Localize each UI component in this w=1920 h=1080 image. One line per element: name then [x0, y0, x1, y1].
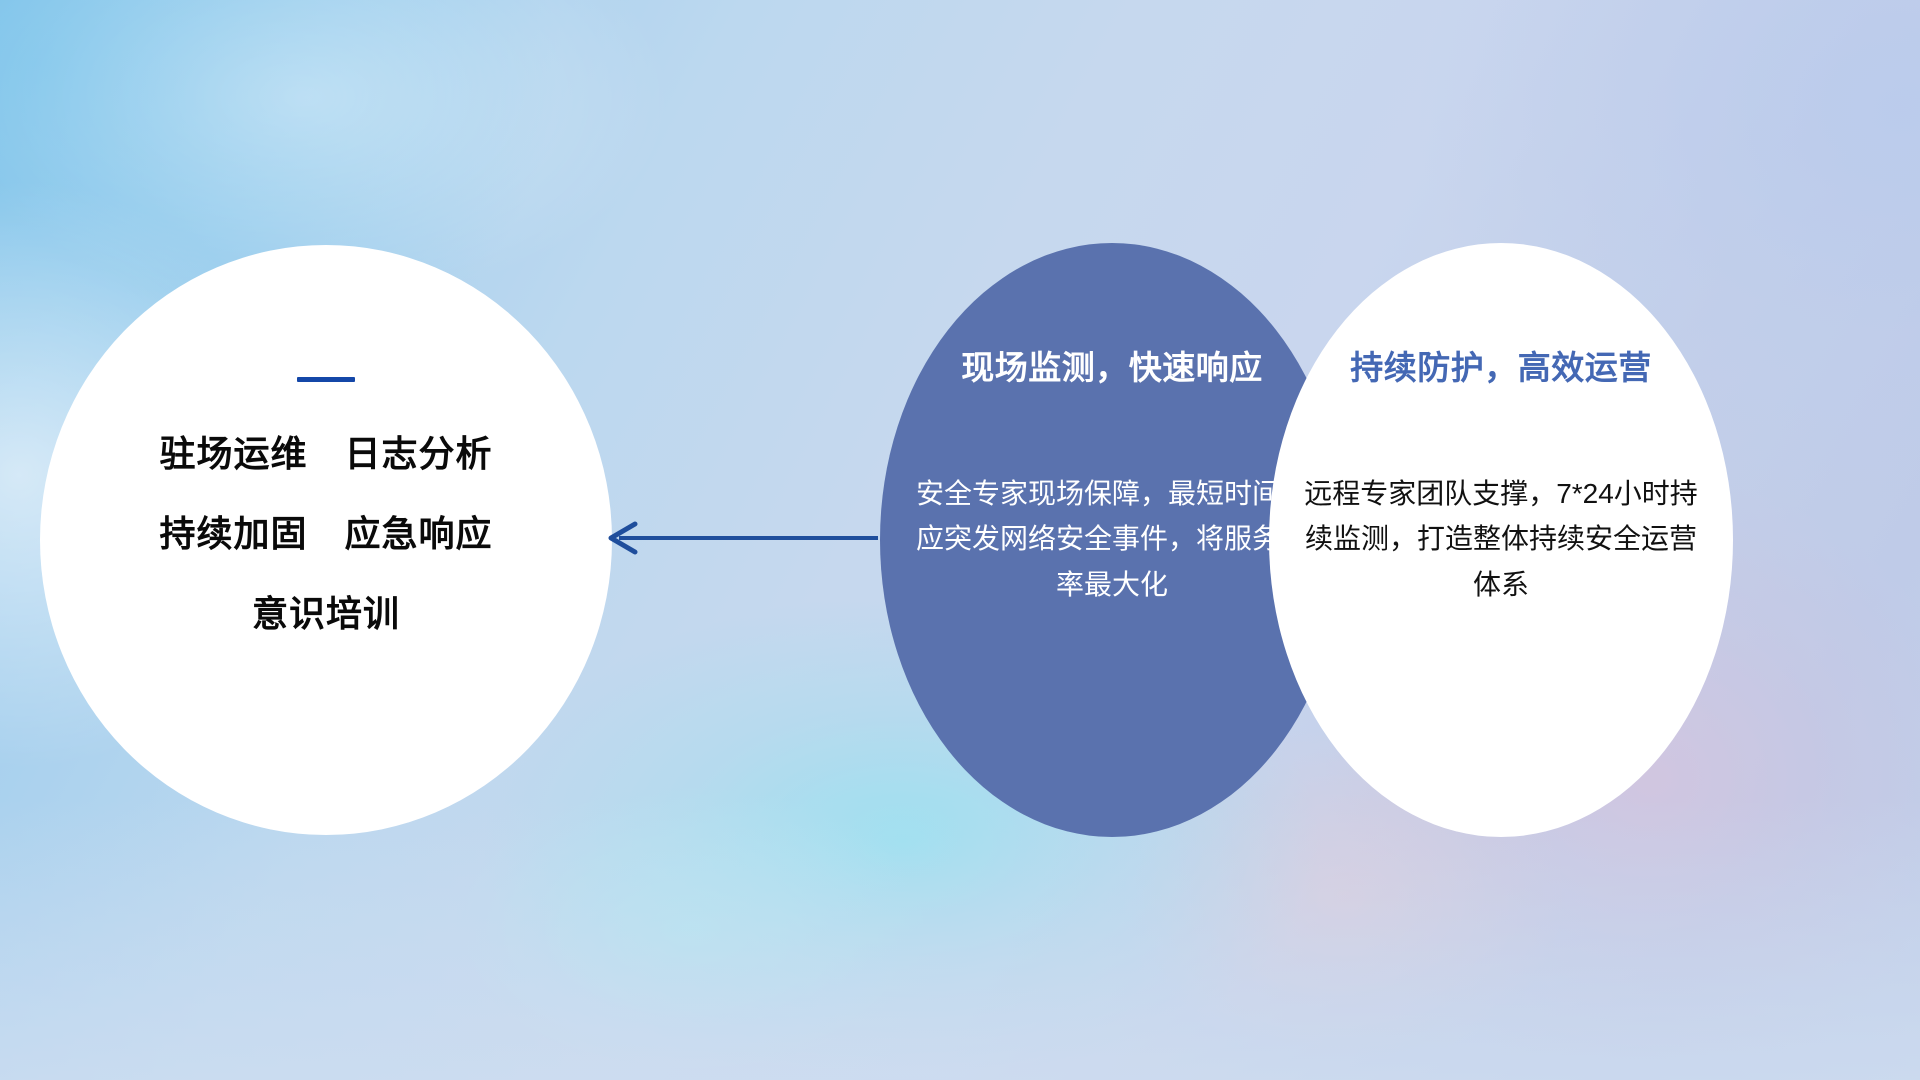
capability-line-2: 持续加固 应急响应 — [40, 516, 612, 552]
capabilities-content: 驻场运维 日志分析 持续加固 应急响应 意识培训 — [40, 377, 612, 632]
capability-line-3: 意识培训 — [40, 596, 612, 632]
continuous-title: 持续防护，高效运营 — [1269, 341, 1733, 389]
continuous-body-text: 远程专家团队支撑，7*24小时持续监测，打造整体持续安全运营体系 — [1269, 471, 1733, 607]
capabilities-bubble[interactable]: 驻场运维 日志分析 持续加固 应急响应 意识培训 — [40, 245, 612, 835]
slide-canvas: 驻场运维 日志分析 持续加固 应急响应 意识培训 现场监测，快速响应 安全专家现… — [0, 0, 1920, 1080]
capability-line-1: 驻场运维 日志分析 — [40, 436, 612, 472]
continuous-content: 持续防护，高效运营 远程专家团队支撑，7*24小时持续监测，打造整体持续安全运营… — [1269, 341, 1733, 607]
capabilities-divider-icon — [297, 377, 355, 382]
flow-arrow-left-icon — [595, 512, 880, 564]
continuous-protection-bubble[interactable]: 持续防护，高效运营 远程专家团队支撑，7*24小时持续监测，打造整体持续安全运营… — [1269, 243, 1733, 837]
